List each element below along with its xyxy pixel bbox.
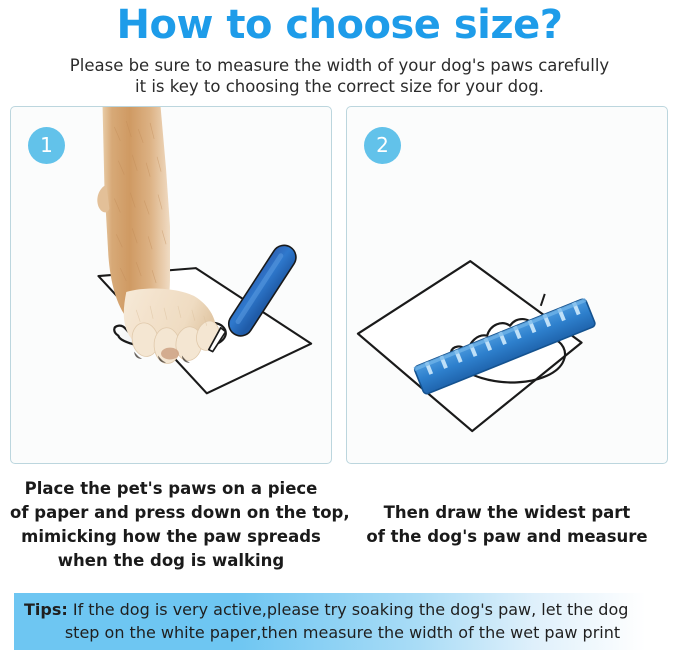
- caption-2-line-1: Then draw the widest part: [346, 501, 668, 525]
- center-pad: [161, 348, 179, 360]
- caption-2-line-2: of the dog's paw and measure: [346, 525, 668, 549]
- step-panel-2: 2: [346, 106, 668, 464]
- caption-1-line-3: mimicking how the paw spreads: [10, 525, 332, 549]
- header: How to choose size? Please be sure to me…: [0, 0, 679, 97]
- step-number-badge-1: 1: [28, 127, 65, 164]
- tips-line-2: step on the white paper,then measure the…: [24, 621, 655, 644]
- subtitle-line-2: it is key to choosing the correct size f…: [60, 76, 620, 97]
- caption-1-line-4: when the dog is walking: [10, 549, 332, 573]
- caption-group: Place the pet's paws on a piece of paper…: [0, 464, 679, 573]
- page-subtitle: Please be sure to measure the width of y…: [60, 55, 620, 97]
- tips-banner: Tips: If the dog is very active,please t…: [14, 593, 665, 650]
- caption-1-line-1: Place the pet's paws on a piece: [10, 477, 332, 501]
- step-caption-2: Then draw the widest part of the dog's p…: [346, 464, 668, 573]
- step-caption-1: Place the pet's paws on a piece of paper…: [10, 464, 332, 573]
- steps-panel-group: 1: [0, 97, 679, 464]
- tips-line-1: Tips: If the dog is very active,please t…: [24, 598, 655, 621]
- subtitle-line-1: Please be sure to measure the width of y…: [60, 55, 620, 76]
- step-number-badge-2: 2: [364, 127, 401, 164]
- outline-stray-mark-right: [541, 294, 545, 306]
- caption-1-line-2: of paper and press down on the top,: [10, 501, 332, 525]
- tips-label: Tips:: [24, 600, 68, 619]
- step-panel-1: 1: [10, 106, 332, 464]
- page-title: How to choose size?: [0, 2, 679, 47]
- paw-traced-on-paper-illustration: [11, 107, 331, 463]
- tips-line-1-text: If the dog is very active,please try soa…: [68, 600, 629, 619]
- tips-section: Tips: If the dog is very active,please t…: [0, 593, 679, 650]
- ruler-measuring-paw-outline-illustration: [347, 107, 667, 463]
